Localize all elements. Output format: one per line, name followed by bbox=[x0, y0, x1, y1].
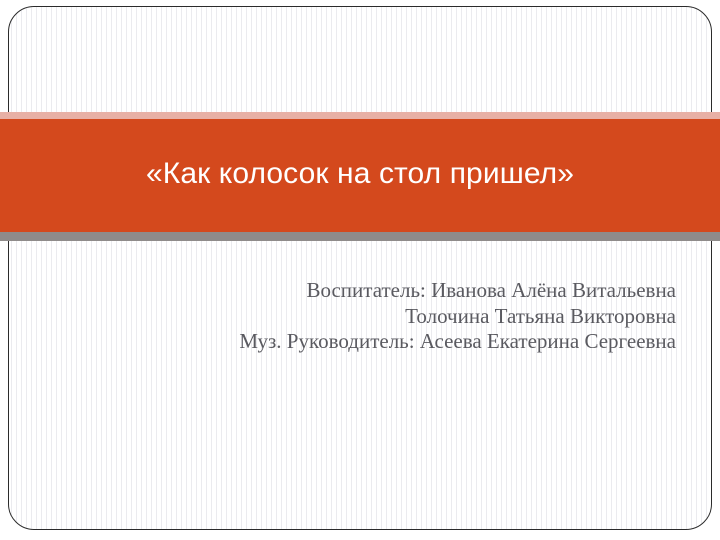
subtitle-line-teacher-secondary: Толочина Татьяна Викторовна bbox=[40, 304, 676, 330]
subtitle-line-music-director: Муз. Руководитель: Асеева Екатерина Серг… bbox=[40, 329, 676, 355]
title-banner-accent-bar: «Как колосок на стол пришел» bbox=[0, 119, 720, 232]
subtitle-line-teacher-primary: Воспитатель: Иванова Алёна Витальевна bbox=[40, 278, 676, 304]
subtitle-block: Воспитатель: Иванова Алёна Витальевна То… bbox=[40, 278, 676, 355]
title-banner: «Как колосок на стол пришел» bbox=[0, 112, 720, 241]
title-banner-shadow-stripe bbox=[0, 232, 720, 241]
slide-canvas bbox=[8, 6, 712, 530]
slide-title: «Как колосок на стол пришел» bbox=[146, 157, 574, 194]
title-banner-highlight-stripe bbox=[0, 112, 720, 119]
presentation-slide: «Как колосок на стол пришел» Воспитатель… bbox=[0, 0, 720, 540]
